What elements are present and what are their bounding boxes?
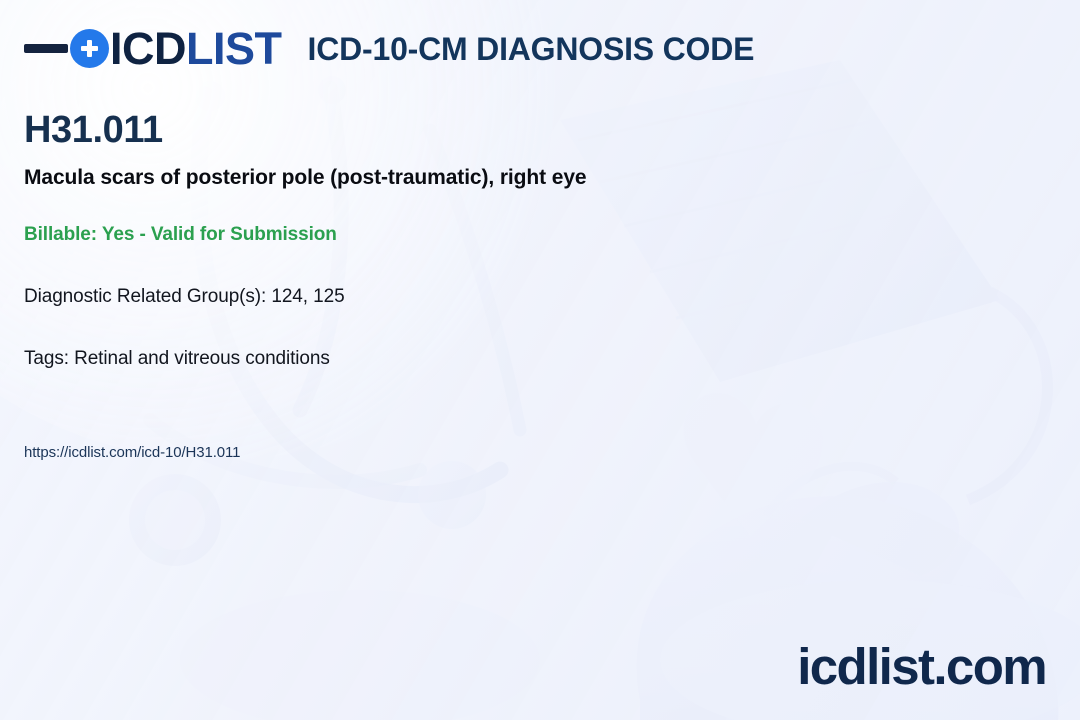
diagnosis-code: H31.011 xyxy=(24,110,163,152)
page-header: ICDLIST ICD-10-CM DIAGNOSIS CODE xyxy=(24,26,754,71)
icdlist-logo[interactable]: ICDLIST xyxy=(24,26,282,71)
logo-text-icd: ICD xyxy=(110,23,186,74)
logo-text-list: LIST xyxy=(186,23,282,74)
source-url[interactable]: https://icdlist.com/icd-10/H31.011 xyxy=(24,444,240,462)
dash-icon xyxy=(24,44,68,53)
site-watermark: icdlist.com xyxy=(797,641,1046,692)
page-title: ICD-10-CM DIAGNOSIS CODE xyxy=(308,33,755,65)
plus-circle-icon xyxy=(70,29,109,68)
diagnostic-related-groups: Diagnostic Related Group(s): 124, 125 xyxy=(24,286,345,309)
icd-code-card: ICDLIST ICD-10-CM DIAGNOSIS CODE H31.011… xyxy=(0,0,1080,720)
diagnosis-description: Macula scars of posterior pole (post-tra… xyxy=(24,165,587,190)
tags-line: Tags: Retinal and vitreous conditions xyxy=(24,348,330,371)
billable-status: Billable: Yes - Valid for Submission xyxy=(24,224,337,247)
content-layer: ICDLIST ICD-10-CM DIAGNOSIS CODE H31.011… xyxy=(0,0,1080,720)
